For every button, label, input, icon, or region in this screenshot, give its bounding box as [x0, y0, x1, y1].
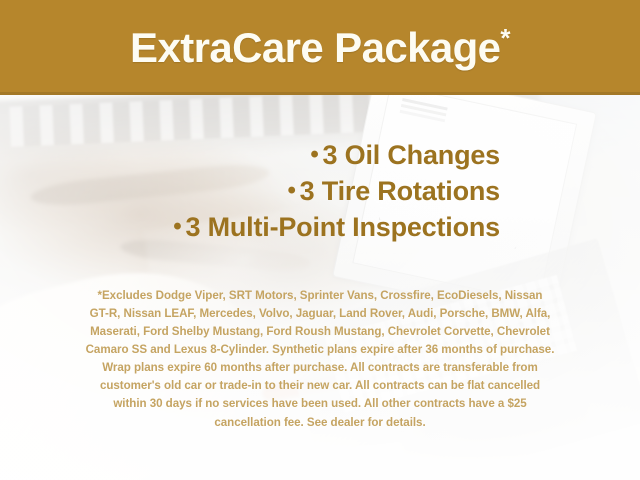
offer-bullet-label: 3 Multi-Point Inspections [185, 212, 500, 242]
page-title: ExtraCare Package* [130, 27, 510, 69]
screen-text-lines [402, 98, 448, 110]
bullet-dot-icon: • [173, 213, 181, 240]
offer-bullet-item: •3 Oil Changes [0, 138, 500, 174]
disclaimer-line: Camaro SS and Lexus 8-Cylinder. Syntheti… [22, 341, 618, 359]
bullet-dot-icon: • [310, 141, 318, 168]
page-title-text: ExtraCare Package [130, 24, 500, 71]
disclaimer-line: *Excludes Dodge Viper, SRT Motors, Sprin… [22, 287, 618, 305]
title-asterisk: * [500, 23, 510, 53]
disclaimer-line: customer's old car or trade-in to their … [22, 377, 618, 395]
disclaimer-line: cancellation fee. See dealer for details… [22, 414, 618, 432]
offer-bullet-label: 3 Oil Changes [323, 140, 500, 170]
disclaimer-line: Maserati, Ford Shelby Mustang, Ford Rous… [22, 323, 618, 341]
header-band: ExtraCare Package* [0, 0, 640, 95]
bullet-dot-icon: • [287, 177, 295, 204]
offer-bullet-item: •3 Tire Rotations [0, 174, 500, 210]
disclaimer-line: within 30 days if no services have been … [22, 395, 618, 413]
disclaimer-line: Wrap plans expire 60 months after purcha… [22, 359, 618, 377]
disclaimer-text: *Excludes Dodge Viper, SRT Motors, Sprin… [22, 287, 618, 432]
offer-bullet-item: •3 Multi-Point Inspections [0, 210, 500, 246]
extracare-package-promo: ExtraCare Package* •3 Oil Changes •3 Tir… [0, 0, 640, 480]
offer-bullet-list: •3 Oil Changes •3 Tire Rotations •3 Mult… [0, 138, 640, 246]
offer-bullet-label: 3 Tire Rotations [300, 176, 500, 206]
disclaimer-line: GT-R, Nissan LEAF, Mercedes, Volvo, Jagu… [22, 305, 618, 323]
